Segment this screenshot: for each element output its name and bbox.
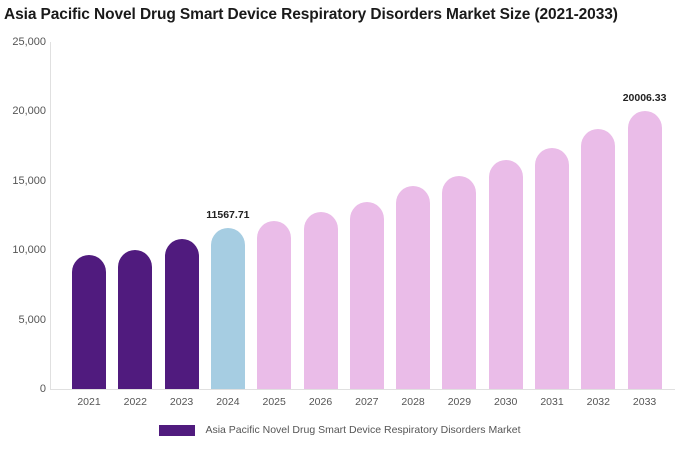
bar-2027[interactable] <box>350 202 384 389</box>
y-axis: 05,00010,00015,00020,00025,000 <box>0 0 46 450</box>
bar-group[interactable]: 11567.71 <box>211 42 245 389</box>
bar-group[interactable]: 20006.33 <box>628 42 662 389</box>
plot-area: 11567.7120006.33 <box>50 42 675 389</box>
bar-2023[interactable] <box>165 239 199 389</box>
legend-swatch-icon <box>159 425 195 436</box>
bar-group[interactable] <box>535 42 569 389</box>
legend-label: Asia Pacific Novel Drug Smart Device Res… <box>205 424 520 436</box>
y-axis-tick-label: 10,000 <box>2 244 46 256</box>
x-axis-tick-label: 2033 <box>615 396 675 408</box>
bar-group[interactable] <box>257 42 291 389</box>
bar-group[interactable] <box>442 42 476 389</box>
bar-group[interactable] <box>72 42 106 389</box>
y-axis-tick-label: 15,000 <box>2 175 46 187</box>
bar-value-label: 20006.33 <box>623 92 667 104</box>
bar-2022[interactable] <box>118 250 152 389</box>
x-axis-line <box>50 389 675 390</box>
bar-group[interactable] <box>118 42 152 389</box>
bar-2029[interactable] <box>442 176 476 389</box>
y-axis-tick-label: 0 <box>2 383 46 395</box>
y-axis-tick-label: 25,000 <box>2 36 46 48</box>
bar-2025[interactable] <box>257 221 291 389</box>
bar-2033[interactable] <box>628 111 662 389</box>
y-axis-tick-label: 20,000 <box>2 105 46 117</box>
bar-group[interactable] <box>304 42 338 389</box>
bar-value-label: 11567.71 <box>206 209 249 221</box>
bar-chart: Asia Pacific Novel Drug Smart Device Res… <box>0 0 680 450</box>
bar-group[interactable] <box>350 42 384 389</box>
bar-2021[interactable] <box>72 255 106 389</box>
bar-group[interactable] <box>489 42 523 389</box>
bar-group[interactable] <box>396 42 430 389</box>
bar-group[interactable] <box>165 42 199 389</box>
bar-2028[interactable] <box>396 186 430 389</box>
chart-title: Asia Pacific Novel Drug Smart Device Res… <box>4 6 680 24</box>
legend-item[interactable]: Asia Pacific Novel Drug Smart Device Res… <box>159 424 520 436</box>
bar-2026[interactable] <box>304 212 338 389</box>
y-axis-tick-label: 5,000 <box>2 314 46 326</box>
bar-group[interactable] <box>581 42 615 389</box>
chart-legend: Asia Pacific Novel Drug Smart Device Res… <box>0 424 680 436</box>
bar-2032[interactable] <box>581 129 615 389</box>
bar-2024[interactable] <box>211 228 245 389</box>
bar-2030[interactable] <box>489 160 523 389</box>
bar-2031[interactable] <box>535 148 569 389</box>
